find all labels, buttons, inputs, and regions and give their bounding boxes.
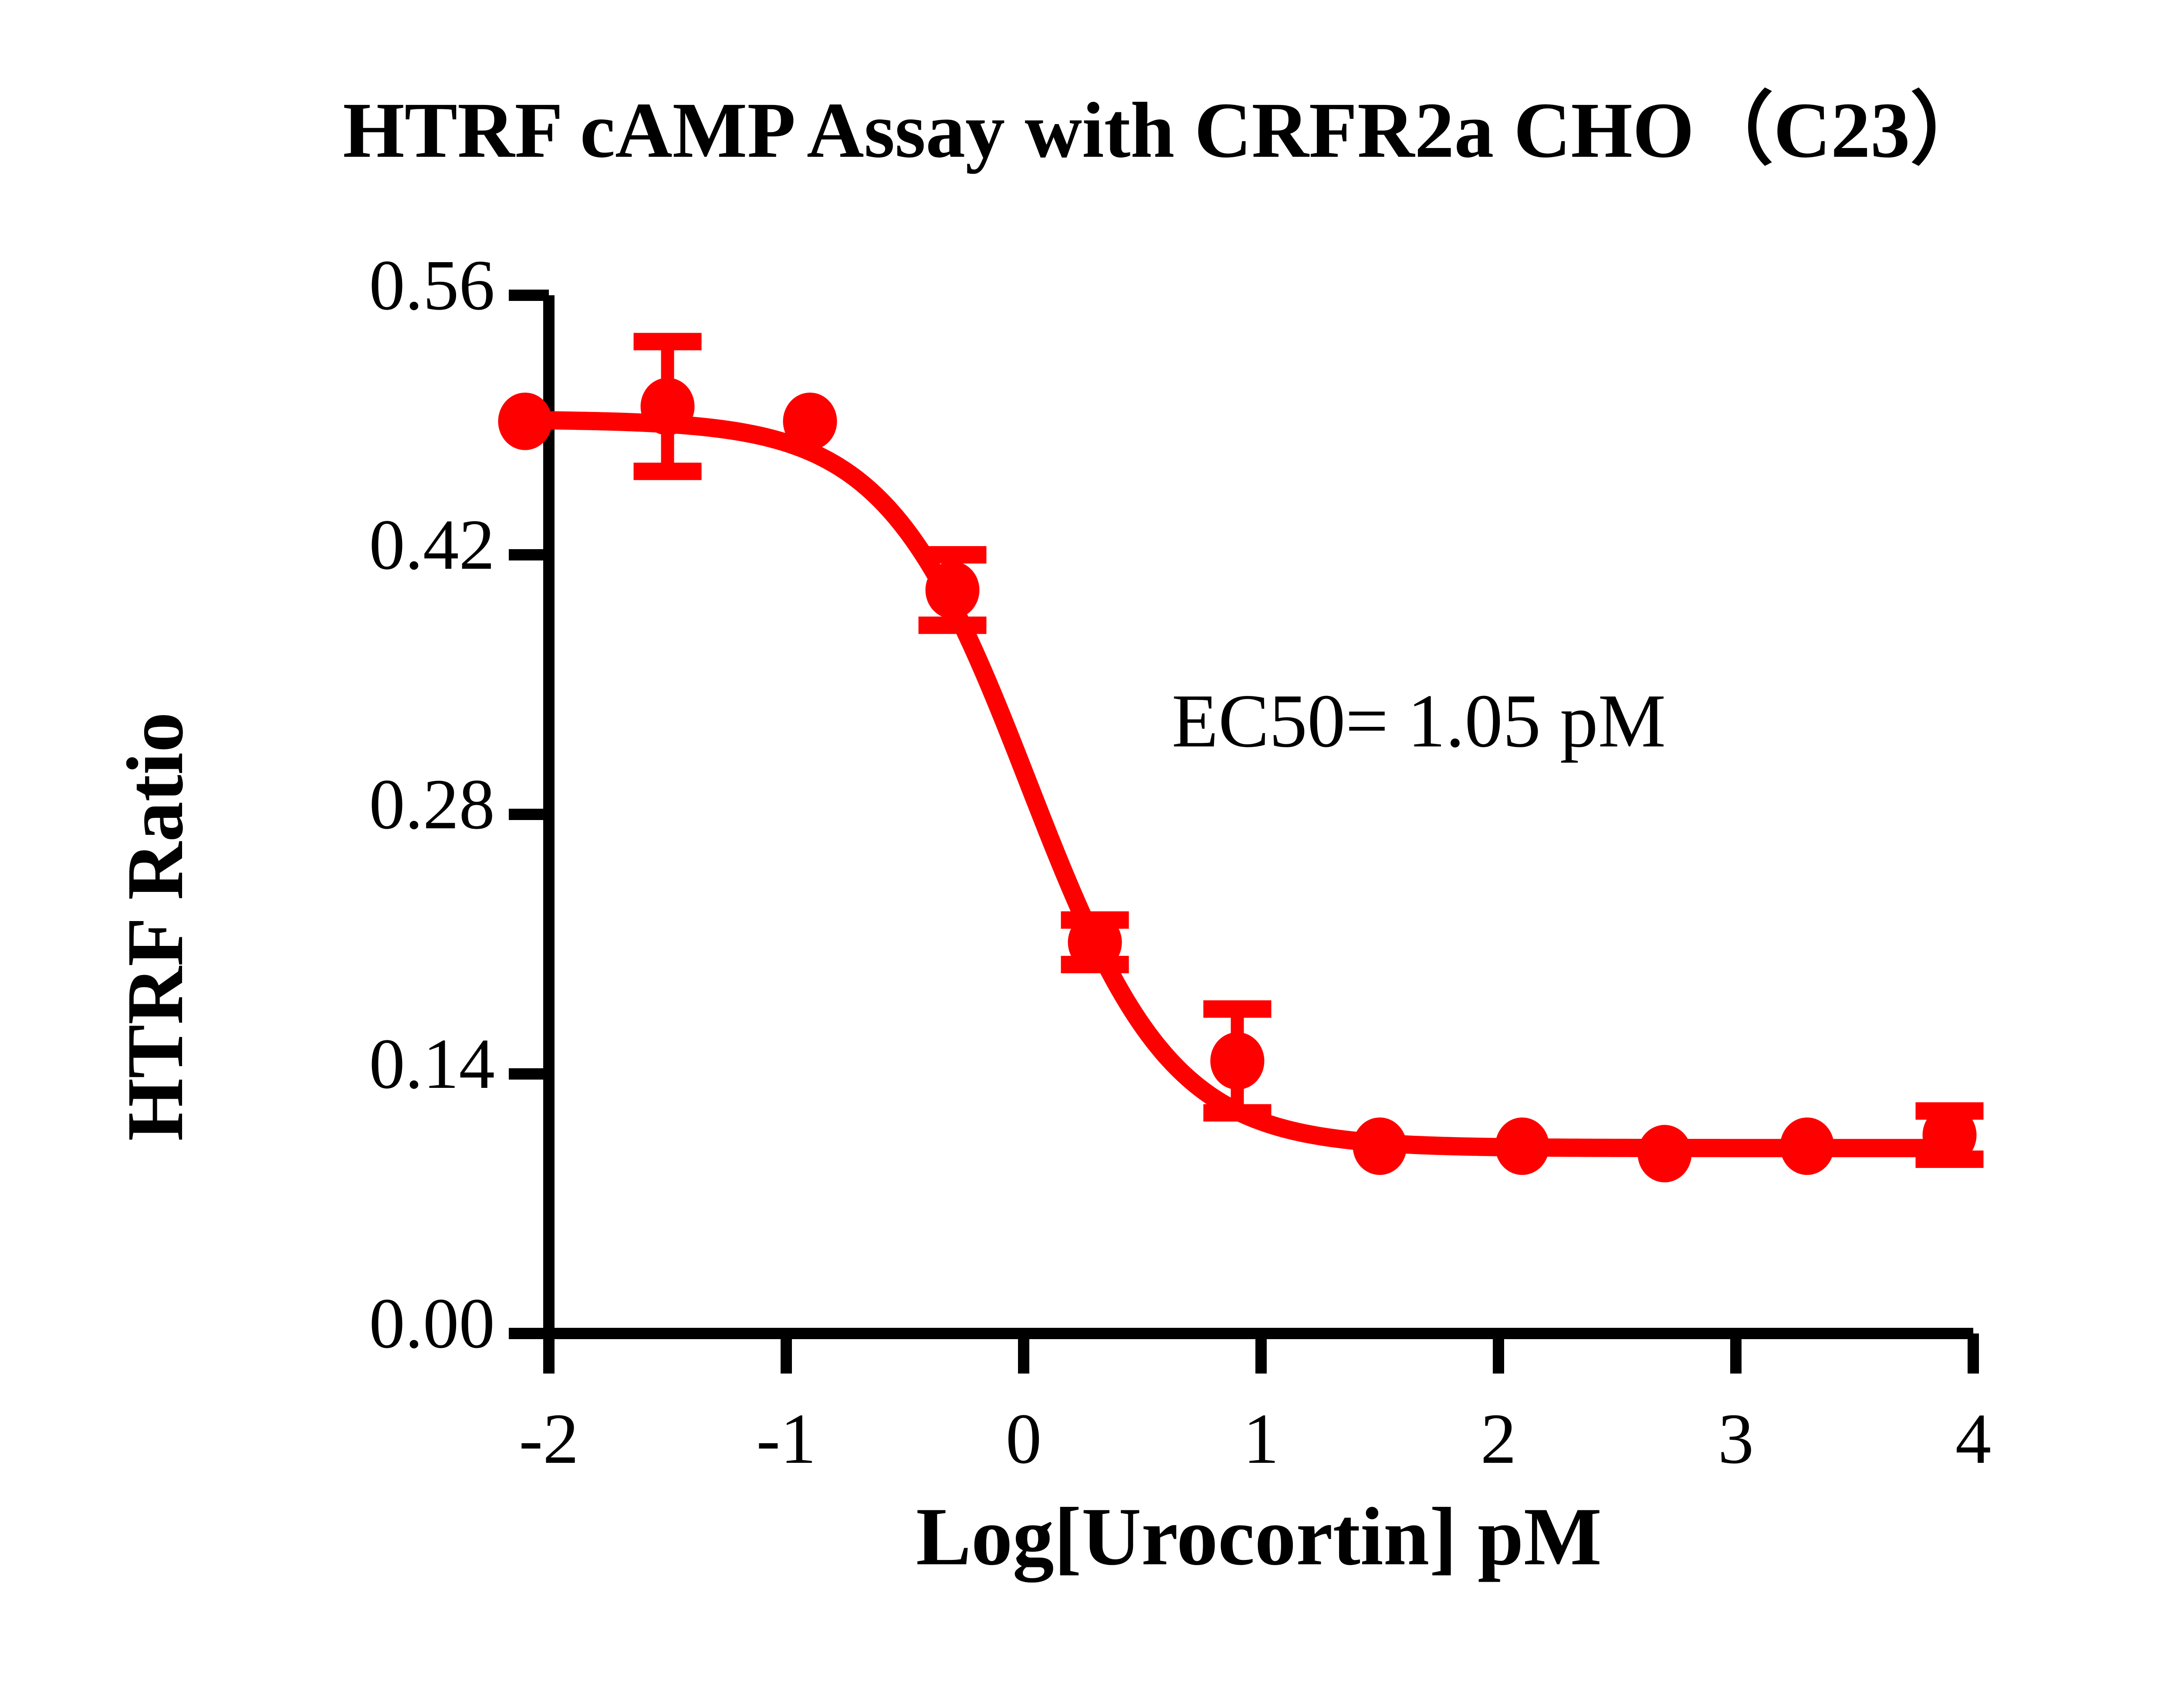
x-tick-label: 3 (1671, 1397, 1801, 1480)
data-point[interactable] (1923, 1106, 1977, 1164)
data-point[interactable] (1495, 1117, 1549, 1175)
ec50-annotation: EC50= 1.05 pM (1172, 677, 1666, 765)
plot-area (0, 0, 2178, 1708)
data-point[interactable] (1068, 914, 1122, 971)
y-tick-label: 0.28 (369, 763, 495, 846)
x-axis-title: Log[Urocortin] pM (540, 1489, 1978, 1584)
y-axis-title: HTRF Ratio (109, 712, 202, 1141)
data-point[interactable] (498, 392, 552, 450)
axes-group (509, 295, 1973, 1374)
data-point[interactable] (926, 561, 980, 619)
y-tick-label: 0.14 (369, 1023, 495, 1105)
data-points (498, 378, 1977, 1182)
x-tick-label: -1 (721, 1397, 852, 1480)
x-tick-label: -2 (484, 1397, 614, 1480)
figure-canvas: HTRF cAMP Assay with CRFR2a CHO（C23） 0.0… (0, 0, 2178, 1708)
y-tick-label: 0.42 (369, 503, 495, 586)
y-tick-label: 0.00 (369, 1282, 495, 1365)
data-point[interactable] (1780, 1117, 1834, 1175)
y-tick-label: 0.56 (369, 244, 495, 327)
data-point[interactable] (783, 392, 837, 450)
x-tick-label: 0 (958, 1397, 1089, 1480)
data-point[interactable] (1638, 1125, 1692, 1182)
data-point[interactable] (1211, 1032, 1265, 1090)
data-point[interactable] (1353, 1117, 1407, 1175)
x-tick-label: 1 (1196, 1397, 1326, 1480)
x-tick-label: 4 (1908, 1397, 2039, 1480)
data-point[interactable] (641, 378, 695, 435)
x-tick-label: 2 (1433, 1397, 1564, 1480)
